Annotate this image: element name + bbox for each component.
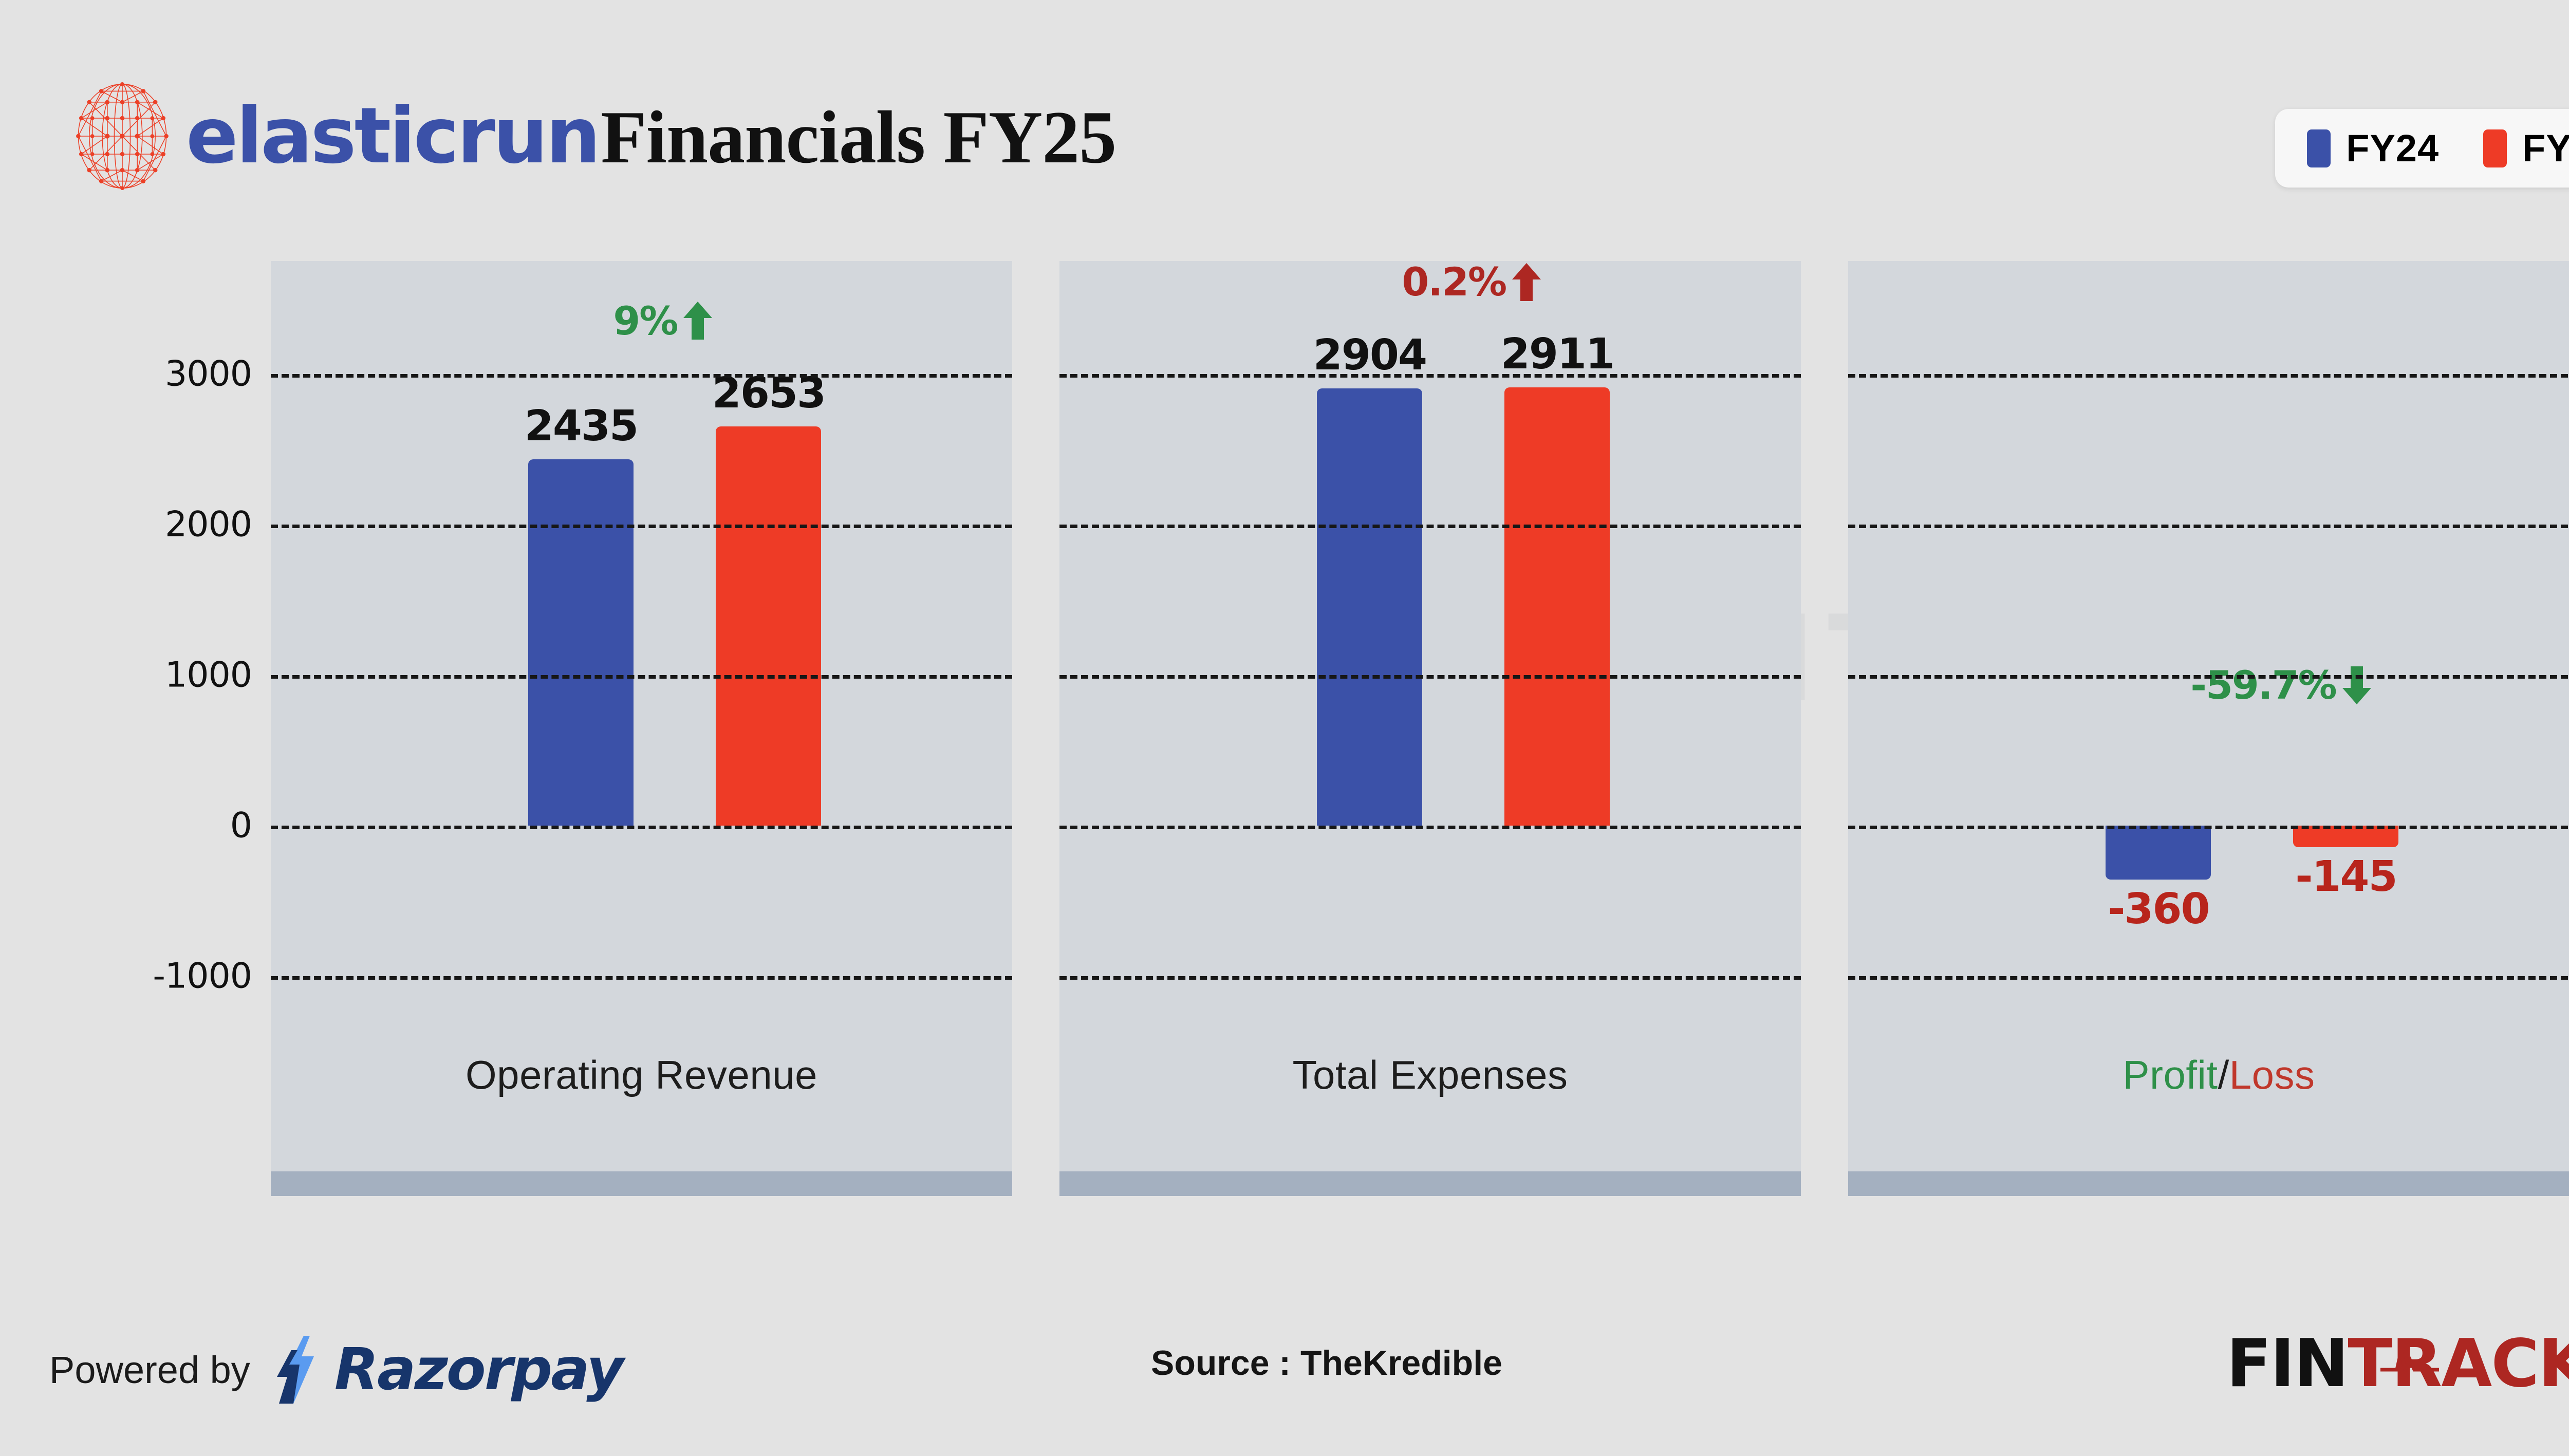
panel-caption: Profit/Loss [1848, 1052, 2569, 1098]
y-axis-tick-label: 0 [118, 806, 252, 846]
gridline [1848, 525, 2569, 528]
panel-caption: Operating Revenue [271, 1052, 1012, 1098]
gridline [1848, 374, 2569, 378]
razorpay-logo: Razorpay [269, 1336, 623, 1404]
bar-fy25[interactable] [716, 426, 821, 826]
legend-swatch-fy24 [2307, 129, 2331, 167]
gridline [271, 675, 1012, 679]
y-axis-tick-label: 1000 [118, 655, 252, 696]
gridline [1059, 525, 1801, 528]
arrow-down-icon [2341, 665, 2372, 705]
bar-value-label: 2435 [472, 402, 690, 451]
bar-fy25[interactable] [1504, 387, 1610, 826]
arrow-up-icon [682, 301, 713, 341]
gridline [271, 374, 1012, 378]
brand-name: elasticrun [186, 98, 599, 175]
panel-caption: Total Expenses [1059, 1052, 1801, 1098]
legend-item-fy25[interactable]: FY25 [2483, 126, 2569, 170]
legend-item-fy24[interactable]: FY24 [2307, 126, 2439, 170]
fintrackr-trackr: TRACKR [2348, 1326, 2569, 1402]
y-axis-tick-label: -1000 [118, 956, 252, 997]
panel-base-bar [1848, 1171, 2569, 1196]
bar-value-label: 2904 [1260, 331, 1479, 380]
panel-base-bar [1059, 1171, 1801, 1196]
legend-label-fy25: FY25 [2522, 126, 2569, 170]
chart-panel: Profit/Loss [1848, 261, 2569, 1196]
y-axis-tick-label: 3000 [118, 354, 252, 395]
gridline [271, 976, 1012, 980]
bar-fy24[interactable] [1317, 388, 1422, 826]
razorpay-wordmark: Razorpay [334, 1336, 623, 1403]
page-header: elasticrun Financials FY25 [72, 72, 1305, 200]
delta-value: 0.2% [1402, 259, 1506, 305]
razorpay-mark-icon [269, 1336, 330, 1404]
bar-value-label: -145 [2237, 852, 2455, 901]
gridline [1848, 976, 2569, 980]
bar-fy24[interactable] [2106, 826, 2211, 880]
powered-by-block: Powered by Razorpay [49, 1336, 622, 1404]
gridline [1848, 675, 2569, 679]
caption-loss: Loss [2229, 1052, 2315, 1097]
y-axis-tick-label: 2000 [118, 505, 252, 545]
gridline [1059, 976, 1801, 980]
panel-base-bar [271, 1171, 1012, 1196]
caption-slash: / [2218, 1052, 2229, 1097]
caption-profit: Profit [2123, 1052, 2218, 1097]
delta-badge: 0.2% [1402, 259, 1542, 305]
fintrackr-logo: FIN TRACKR [2226, 1326, 2569, 1402]
delta-value: -59.7% [2190, 662, 2336, 708]
gridline [271, 525, 1012, 528]
page-footer: Powered by Razorpay Source : TheKredible… [0, 1286, 2569, 1456]
fintrackr-fin: FIN [2226, 1326, 2348, 1402]
chart-legend: FY24 FY25 [2275, 109, 2569, 188]
bar-value-label: -360 [2049, 885, 2267, 934]
gridline [1059, 826, 1801, 829]
powered-by-label: Powered by [49, 1348, 250, 1392]
gridline [271, 826, 1012, 829]
legend-swatch-fy25 [2483, 129, 2507, 167]
delta-badge: -59.7% [2190, 662, 2372, 708]
legend-label-fy24: FY24 [2346, 126, 2439, 170]
chart-panel: Total Expenses [1059, 261, 1801, 1196]
source-credit: Source : TheKredible [1151, 1343, 1502, 1383]
delta-value: 9% [613, 298, 677, 344]
arrow-up-icon [1511, 262, 1542, 302]
gridline [1059, 675, 1801, 679]
gridline [1848, 826, 2569, 829]
bar-value-label: 2911 [1448, 330, 1666, 379]
elasticrun-globe-icon [72, 81, 173, 191]
bar-fy24[interactable] [528, 459, 634, 826]
page-title: Financials FY25 [601, 100, 1116, 175]
delta-badge: 9% [613, 298, 713, 344]
gridline [1059, 374, 1801, 378]
pulse-line-icon [2376, 1343, 2443, 1374]
